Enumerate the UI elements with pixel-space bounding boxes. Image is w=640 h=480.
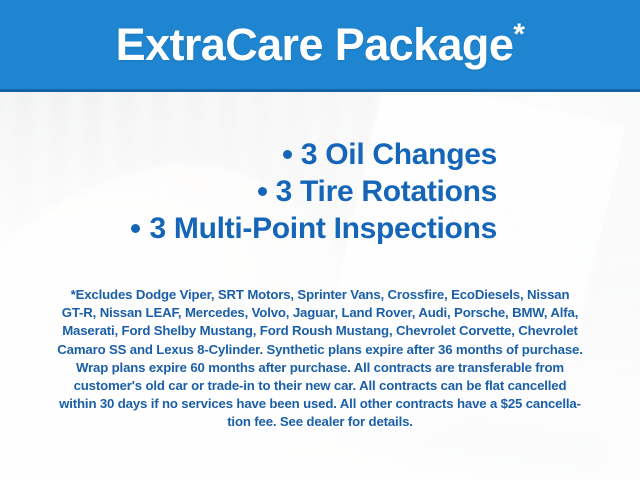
disclaimer-line: Camaro SS and Lexus 8-Cylinder. Syntheti… <box>26 341 614 359</box>
benefit-item-label: 3 Tire Rotations <box>276 175 497 208</box>
extracare-package-promo: ExtraCare Package* 3 Oil Changes 3 Tire … <box>0 0 640 480</box>
benefit-item-tire-rotations: 3 Tire Rotations <box>0 173 497 210</box>
benefit-item-label: 3 Oil Changes <box>301 138 497 171</box>
benefit-item-label: 3 Multi-Point Inspections <box>149 212 497 245</box>
disclaimer-line: GT-R, Nissan LEAF, Mercedes, Volvo, Jagu… <box>26 304 614 322</box>
benefit-item-oil-changes: 3 Oil Changes <box>0 136 497 173</box>
page-title-text: ExtraCare Package <box>116 19 514 70</box>
page-title-asterisk: * <box>513 18 524 51</box>
disclaimer-line: Maserati, Ford Shelby Mustang, Ford Rous… <box>26 322 614 340</box>
disclaimer-line: within 30 days if no services have been … <box>26 395 614 413</box>
disclaimer-text: *Excludes Dodge Viper, SRT Motors, Sprin… <box>26 286 614 432</box>
disclaimer-line: *Excludes Dodge Viper, SRT Motors, Sprin… <box>26 286 614 304</box>
disclaimer-line: Wrap plans expire 60 months after purcha… <box>26 359 614 377</box>
header-banner: ExtraCare Package* <box>0 0 640 92</box>
disclaimer-line: customer's old car or trade-in to their … <box>26 377 614 395</box>
benefits-list: 3 Oil Changes 3 Tire Rotations 3 Multi-P… <box>0 136 497 247</box>
disclaimer-line: tion fee. See dealer for details. <box>26 413 614 431</box>
page-title: ExtraCare Package* <box>116 22 525 67</box>
bullet-dot-icon <box>283 150 292 159</box>
bullet-dot-icon <box>131 224 140 233</box>
benefit-item-multi-point-inspections: 3 Multi-Point Inspections <box>0 210 497 247</box>
bullet-dot-icon <box>258 187 267 196</box>
